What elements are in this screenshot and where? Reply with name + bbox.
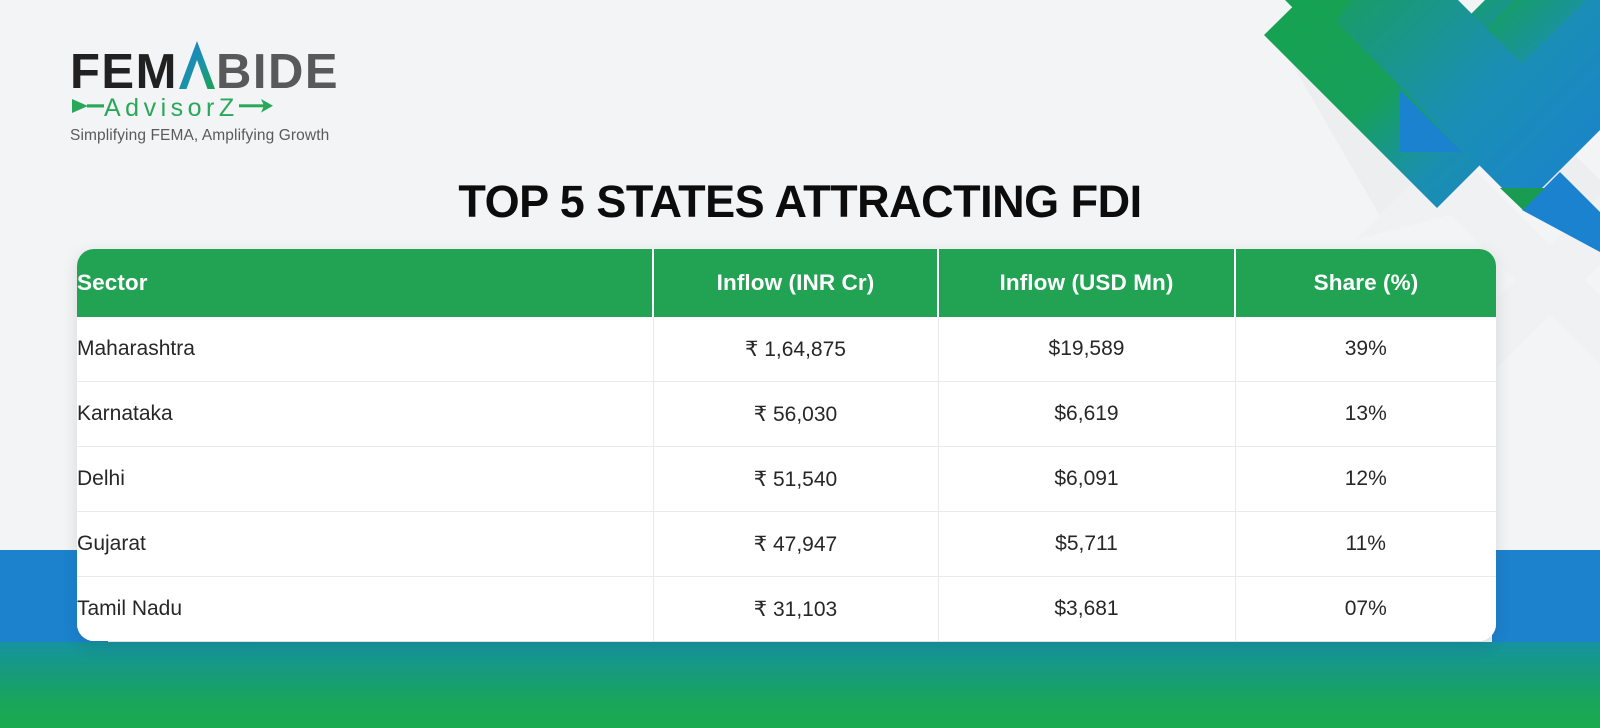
cell-share: 13%: [1235, 382, 1496, 447]
cell-inflow-inr: ₹ 1,64,875: [653, 317, 938, 382]
cell-inflow-usd: $19,589: [938, 317, 1235, 382]
table-row: Karnataka ₹ 56,030 $6,619 13%: [77, 382, 1496, 447]
cell-sector: Karnataka: [77, 382, 653, 447]
gradient-chevron-a-icon: [178, 39, 216, 89]
column-header-share[interactable]: Share (%): [1235, 249, 1496, 317]
cell-inflow-inr: ₹ 31,103: [653, 577, 938, 642]
brand-logo: FEM BIDE AdvisorZ: [70, 38, 380, 145]
logo-fem-text: FEM: [70, 48, 178, 97]
column-header-inflow-inr[interactable]: Inflow (INR Cr): [653, 249, 938, 317]
table-header: Sector Inflow (INR Cr) Inflow (USD Mn) S…: [77, 249, 1496, 317]
cell-inflow-usd: $3,681: [938, 577, 1235, 642]
cell-sector: Tamil Nadu: [77, 577, 653, 642]
gradient-chevron-outer: [1270, 0, 1600, 145]
small-blue-triangle: [1400, 90, 1462, 152]
cell-inflow-inr: ₹ 51,540: [653, 447, 938, 512]
cell-share: 07%: [1235, 577, 1496, 642]
logo-advisor-text: AdvisorZ: [104, 96, 239, 121]
cell-inflow-usd: $6,619: [938, 382, 1235, 447]
fdi-table: Sector Inflow (INR Cr) Inflow (USD Mn) S…: [77, 249, 1496, 641]
arrow-right-icon: [239, 95, 273, 122]
logo-wordmark: FEM BIDE: [70, 38, 380, 88]
play-triangle-icon: [70, 95, 104, 122]
bottom-banner: [0, 642, 1600, 728]
cell-sector: Gujarat: [77, 512, 653, 577]
column-header-sector[interactable]: Sector: [77, 249, 653, 317]
cell-share: 12%: [1235, 447, 1496, 512]
cell-inflow-usd: $5,711: [938, 512, 1235, 577]
gray-chevron: [1415, 0, 1600, 186]
cell-sector: Maharashtra: [77, 317, 653, 382]
table-header-row: Sector Inflow (INR Cr) Inflow (USD Mn) S…: [77, 249, 1496, 317]
page-title: TOP 5 STATES ATTRACTING FDI: [0, 176, 1600, 228]
cell-inflow-inr: ₹ 56,030: [653, 382, 938, 447]
table-row: Delhi ₹ 51,540 $6,091 12%: [77, 447, 1496, 512]
bottom-right-blue-block: [1492, 550, 1600, 642]
fdi-table-container: Sector Inflow (INR Cr) Inflow (USD Mn) S…: [77, 249, 1496, 641]
logo-tagline: Simplifying FEMA, Amplifying Growth: [70, 127, 380, 145]
cell-inflow-inr: ₹ 47,947: [653, 512, 938, 577]
cell-sector: Delhi: [77, 447, 653, 512]
column-header-inflow-usd[interactable]: Inflow (USD Mn): [938, 249, 1235, 317]
table-row: Gujarat ₹ 47,947 $5,711 11%: [77, 512, 1496, 577]
cell-inflow-usd: $6,091: [938, 447, 1235, 512]
table-body: Maharashtra ₹ 1,64,875 $19,589 39% Karna…: [77, 317, 1496, 641]
logo-bide-text: BIDE: [216, 48, 339, 97]
cell-share: 11%: [1235, 512, 1496, 577]
cell-share: 39%: [1235, 317, 1496, 382]
table-row: Maharashtra ₹ 1,64,875 $19,589 39%: [77, 317, 1496, 382]
table-row: Tamil Nadu ₹ 31,103 $3,681 07%: [77, 577, 1496, 642]
